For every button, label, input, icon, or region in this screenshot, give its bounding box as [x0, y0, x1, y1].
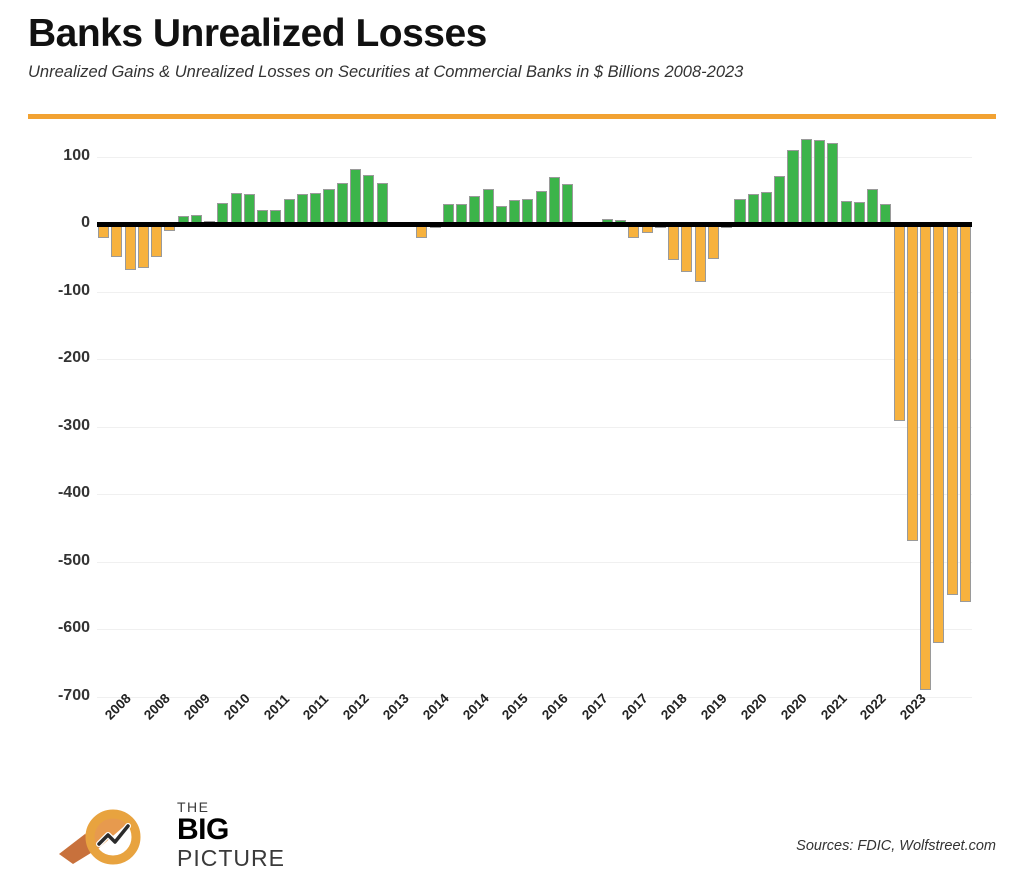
bar — [562, 184, 573, 224]
bar — [960, 224, 971, 602]
bar — [297, 194, 308, 224]
y-axis-tick-label: -600 — [20, 619, 90, 637]
y-axis-tick-label: -400 — [20, 484, 90, 502]
bar — [483, 189, 494, 224]
bar — [522, 199, 533, 224]
bar — [111, 224, 122, 256]
bar — [854, 202, 865, 224]
bar — [310, 193, 321, 224]
bar — [708, 224, 719, 259]
bar — [151, 224, 162, 256]
bar — [695, 224, 706, 281]
bar — [138, 224, 149, 268]
chart-header: Banks Unrealized Losses Unrealized Gains… — [28, 14, 996, 83]
bar — [787, 150, 798, 224]
y-axis-tick-label: 100 — [20, 147, 90, 165]
y-axis: 1000-100-200-300-400-500-600-700 — [12, 130, 90, 710]
bar-series — [97, 130, 972, 710]
bar — [217, 203, 228, 225]
bar — [867, 189, 878, 224]
bar — [125, 224, 136, 269]
plot-area — [97, 130, 972, 710]
bar — [894, 224, 905, 421]
bar — [947, 224, 958, 595]
sources-note: Sources: FDIC, Wolfstreet.com — [796, 838, 996, 854]
y-axis-tick-label: 0 — [20, 214, 90, 232]
logo-line-big: BIG — [177, 815, 285, 845]
logo-line-the: THE — [177, 800, 285, 814]
chart-page: Banks Unrealized Losses Unrealized Gains… — [0, 0, 1024, 881]
bar — [231, 193, 242, 225]
bar — [469, 196, 480, 224]
y-axis-tick-label: -700 — [20, 687, 90, 705]
zero-line — [97, 222, 972, 227]
logo-wordmark: THE BIG PICTURE — [177, 800, 285, 870]
page-title: Banks Unrealized Losses — [28, 14, 996, 55]
bar — [456, 204, 467, 224]
bar — [880, 204, 891, 224]
bar — [284, 199, 295, 225]
y-axis-tick-label: -500 — [20, 552, 90, 570]
bar — [668, 224, 679, 260]
magnifying-glass-chart-icon — [55, 804, 175, 866]
bar — [337, 183, 348, 225]
bar — [350, 169, 361, 224]
bar — [443, 204, 454, 224]
bar — [933, 224, 944, 642]
bar — [323, 189, 334, 225]
bar — [536, 191, 547, 225]
logo-line-picture: PICTURE — [177, 847, 285, 870]
bar — [244, 194, 255, 224]
x-axis-labels: 2008200820092010201120112012201320142014… — [97, 712, 972, 792]
bar — [377, 183, 388, 225]
bar — [827, 143, 838, 224]
bar — [774, 176, 785, 225]
bar — [734, 199, 745, 224]
brand-logo: THE BIG PICTURE — [55, 798, 355, 868]
bar — [509, 200, 520, 224]
bar — [363, 175, 374, 225]
y-axis-tick-label: -300 — [20, 417, 90, 435]
accent-rule — [28, 114, 996, 119]
bar — [907, 224, 918, 541]
bar — [549, 177, 560, 224]
bar — [841, 201, 852, 225]
bar — [681, 224, 692, 272]
bar — [920, 224, 931, 689]
y-axis-tick-label: -100 — [20, 282, 90, 300]
bar — [801, 139, 812, 225]
y-axis-tick-label: -200 — [20, 349, 90, 367]
bar — [814, 140, 825, 224]
bar — [761, 192, 772, 224]
page-subtitle: Unrealized Gains & Unrealized Losses on … — [28, 63, 996, 83]
bar — [748, 194, 759, 224]
